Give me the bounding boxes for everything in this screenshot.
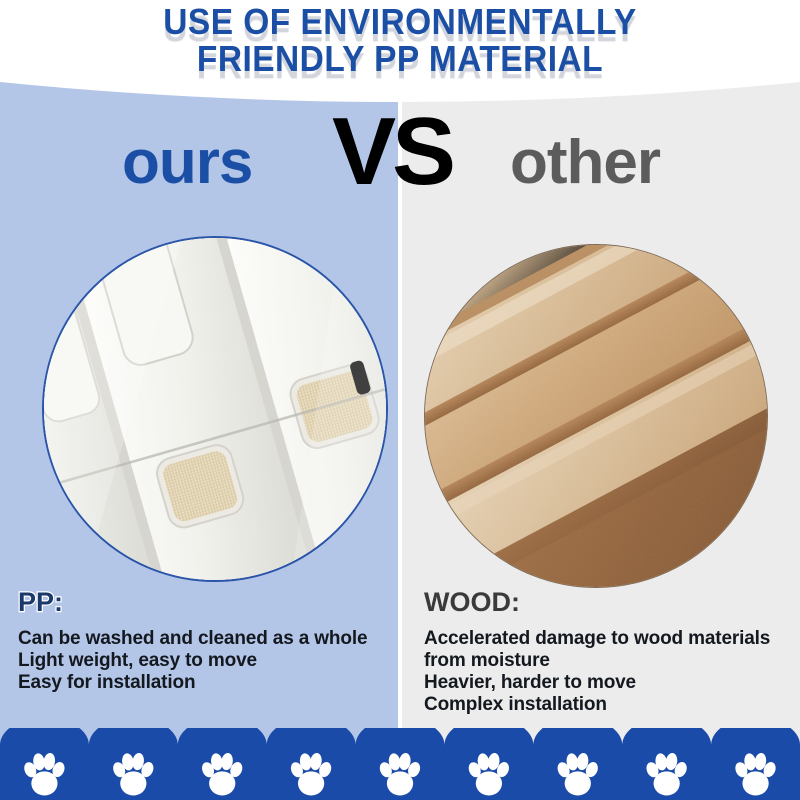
wood-material-photo [424,244,768,588]
pp-caption-heading: PP: [18,588,390,618]
pp-benefits-list: Can be washed and cleaned as a whole Lig… [18,628,390,694]
comparison-labels-row: ours VS other [0,108,800,204]
list-item: Heavier, harder to move [424,672,790,694]
pp-material-photo [42,236,388,582]
page-title-line-2: FRIENDLY PP MATERIAL [28,41,772,78]
list-item: Easy for installation [18,672,390,694]
label-ours: ours [122,132,252,194]
list-item: Complex installation [424,694,790,716]
comparison-infographic: USE OF ENVIRONMENTALLY FRIENDLY PP MATER… [0,0,800,800]
wood-caption-heading: WOOD: [424,588,790,618]
list-item: from moisture [424,650,790,672]
wood-caption-block: WOOD: Accelerated damage to wood materia… [424,588,790,716]
label-other: other [510,132,660,194]
list-item: Light weight, easy to move [18,650,390,672]
list-item: Accelerated damage to wood materials [424,628,790,650]
page-title-line-1: USE OF ENVIRONMENTALLY [28,4,772,41]
wood-drawbacks-list: Accelerated damage to wood materials fro… [424,628,790,716]
paw-print-banner [0,728,800,800]
pp-caption-block: PP: Can be washed and cleaned as a whole… [18,588,390,694]
paw-banner-svg [0,728,800,800]
list-item: Can be washed and cleaned as a whole [18,628,390,650]
label-vs: VS [332,104,452,200]
page-title: USE OF ENVIRONMENTALLY FRIENDLY PP MATER… [28,4,772,77]
